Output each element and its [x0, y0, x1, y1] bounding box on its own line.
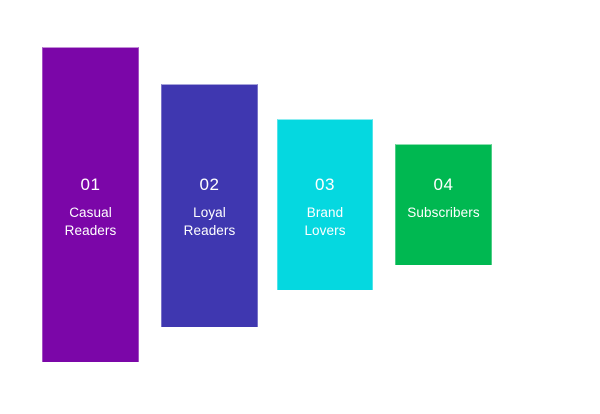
chart-plot-area: 01CasualReaders02LoyalReaders03BrandLove…	[0, 0, 600, 414]
funnel-stage-text-group: 04Subscribers	[396, 175, 491, 222]
funnel-stage-label-line: Readers	[47, 222, 134, 240]
funnel-stage-label-line: Subscribers	[400, 204, 487, 222]
funnel-stage-label-line: Brand	[282, 204, 368, 222]
funnel-stage-01[interactable]: 01CasualReaders	[42, 47, 139, 362]
funnel-stage-text-group: 03BrandLovers	[278, 175, 372, 240]
funnel-stage-02[interactable]: 02LoyalReaders	[161, 84, 258, 327]
funnel-stage-text-group: 01CasualReaders	[43, 175, 138, 240]
funnel-stage-label: LoyalReaders	[162, 204, 257, 240]
funnel-stage-number: 02	[162, 175, 257, 195]
funnel-stage-text-group: 02LoyalReaders	[162, 175, 257, 240]
funnel-chart-canvas: 01CasualReaders02LoyalReaders03BrandLove…	[0, 0, 600, 414]
funnel-stage-04[interactable]: 04Subscribers	[395, 144, 492, 265]
funnel-stage-label-line: Casual	[47, 204, 134, 222]
funnel-stage-label: CasualReaders	[43, 204, 138, 240]
funnel-stage-label: BrandLovers	[278, 204, 372, 240]
funnel-stage-label: Subscribers	[396, 204, 491, 222]
funnel-stage-label-line: Readers	[166, 222, 253, 240]
funnel-stage-label-line: Lovers	[282, 222, 368, 240]
funnel-stage-03[interactable]: 03BrandLovers	[277, 119, 373, 290]
funnel-stage-number: 04	[396, 175, 491, 195]
funnel-stage-number: 03	[278, 175, 372, 195]
funnel-stage-number: 01	[43, 175, 138, 195]
funnel-stage-label-line: Loyal	[166, 204, 253, 222]
